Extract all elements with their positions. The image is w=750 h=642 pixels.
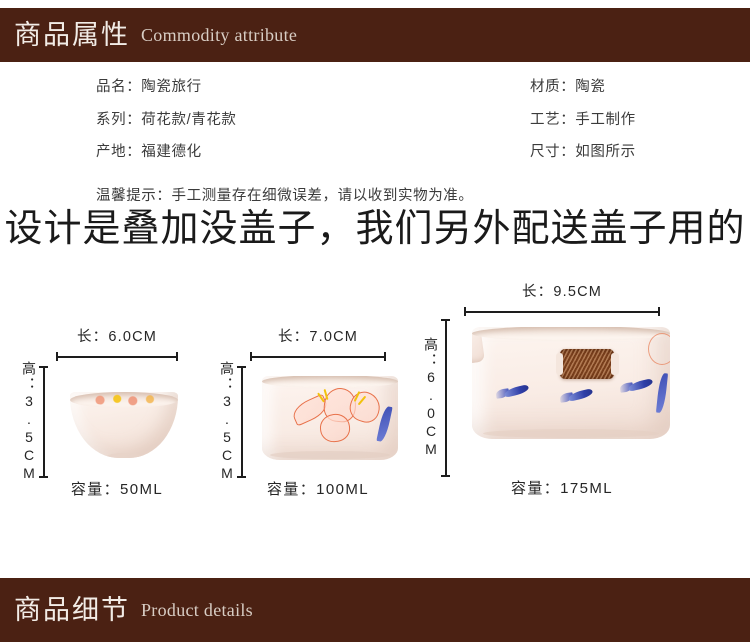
pitcher-fish-1	[496, 385, 530, 398]
teacup-height-cap-bottom	[39, 476, 48, 478]
pitcher-fish-3-body	[627, 378, 653, 391]
measurement-disclaimer-note: 温馨提示：手工测量存在细微误差，请以收到实物为准。	[96, 184, 474, 205]
bowl-height-rule	[237, 366, 246, 478]
product-details-banner-title-en: Product details	[141, 601, 253, 620]
attributes-column-left: 品名：陶瓷旅行 系列：荷花款/青花款 产地：福建德化	[96, 80, 237, 178]
teacup-vessel-image	[70, 392, 178, 458]
product-size-showcase: 长：6.0CM 高：3.5CM 容量：50ML 长：7.0CM	[0, 275, 750, 505]
pitcher-width-label: 长：9.5CM	[424, 285, 700, 300]
bowl-rim	[262, 376, 398, 388]
bowl-width-label: 长：7.0CM	[218, 330, 418, 345]
bowl-width-cap-right	[384, 352, 386, 361]
attribute-craft: 工艺：手工制作	[530, 113, 636, 128]
teacup-height-dimension: 高：3.5CM	[22, 366, 48, 478]
pitcher-height-label: 高：6.0CM	[424, 337, 438, 459]
product-details-banner: 商品细节 Product details	[0, 578, 750, 642]
teacup-floral-pattern	[86, 393, 164, 406]
pitcher-width-cap-right	[658, 307, 660, 316]
teacup-height-label: 高：3.5CM	[22, 361, 36, 483]
teacup-height-cap-top	[39, 366, 48, 368]
bowl-height-dimension: 高：3.5CM	[220, 366, 246, 478]
attribute-material: 材质：陶瓷	[530, 80, 636, 95]
attribute-series: 系列：荷花款/青花款	[96, 113, 237, 128]
pitcher-fish-3	[620, 379, 654, 392]
bowl-height-label: 高：3.5CM	[220, 361, 234, 483]
product-bowl: 长：7.0CM 高：3.5CM	[218, 330, 418, 505]
pitcher-base	[483, 429, 659, 438]
pitcher-height-rule	[441, 319, 450, 477]
teacup-capacity-label: 容量：50ML	[22, 482, 212, 497]
teacup-width-cap-left	[56, 352, 58, 361]
attributes-column-right: 材质：陶瓷 工艺：手工制作 尺寸：如图所示	[530, 80, 636, 178]
attribute-product-name: 品名：陶瓷旅行	[96, 80, 237, 95]
bowl-width-rule	[250, 352, 386, 361]
pitcher-fish-2-body	[567, 388, 593, 401]
pitcher-rim	[472, 327, 670, 341]
commodity-attribute-banner: 商品属性 Commodity attribute	[0, 8, 750, 62]
attribute-origin: 产地：福建德化	[96, 145, 237, 160]
bowl-height-cap-bottom	[237, 476, 246, 478]
pitcher-rattan-handle	[560, 349, 614, 379]
pitcher-height-dimension: 高：6.0CM	[424, 319, 450, 477]
product-teacup: 长：6.0CM 高：3.5CM 容量：50ML	[22, 330, 212, 505]
bowl-width-cap-left	[250, 352, 252, 361]
commodity-attribute-banner-title-en: Commodity attribute	[141, 26, 297, 45]
commodity-attribute-banner-title-cn: 商品属性	[14, 22, 130, 49]
pitcher-width-cap-left	[464, 307, 466, 316]
teacup-width-dimension: 长：6.0CM	[22, 330, 212, 361]
attributes-table: 品名：陶瓷旅行 系列：荷花款/青花款 产地：福建德化 材质：陶瓷 工艺：手工制作…	[0, 80, 750, 200]
teacup-width-rule	[56, 352, 178, 361]
bowl-width-dimension: 长：7.0CM	[218, 330, 418, 361]
pitcher-width-dimension: 长：9.5CM	[424, 285, 700, 316]
design-headline: 设计是叠加没盖子，我们另外配送盖子用的	[0, 210, 750, 248]
attribute-size: 尺寸：如图所示	[530, 145, 636, 160]
pitcher-fish-1-body	[503, 384, 529, 397]
pitcher-blue-leaf	[656, 373, 668, 414]
teacup-width-label: 长：6.0CM	[22, 330, 212, 345]
pitcher-height-cap-bottom	[441, 475, 450, 477]
product-pitcher: 长：9.5CM 高：6.0CM	[424, 285, 700, 505]
pitcher-handle-notch-right	[611, 353, 619, 375]
teacup-foot	[107, 453, 141, 458]
bowl-height-cap-top	[237, 366, 246, 368]
pitcher-handle-notch-left	[556, 353, 563, 375]
pitcher-fish-2	[560, 389, 594, 402]
pitcher-height-cap-top	[441, 319, 450, 321]
pitcher-coral-motif	[648, 333, 670, 365]
pitcher-capacity-label: 容量：175ML	[424, 481, 700, 496]
teacup-height-rule	[39, 366, 48, 478]
product-details-banner-title-cn: 商品细节	[14, 597, 130, 624]
teacup-width-cap-right	[176, 352, 178, 361]
pitcher-vessel-image	[472, 327, 670, 439]
bowl-vessel-image	[262, 376, 398, 460]
pitcher-width-rule	[464, 307, 660, 316]
bowl-base	[270, 451, 390, 459]
bowl-capacity-label: 容量：100ML	[218, 482, 418, 497]
